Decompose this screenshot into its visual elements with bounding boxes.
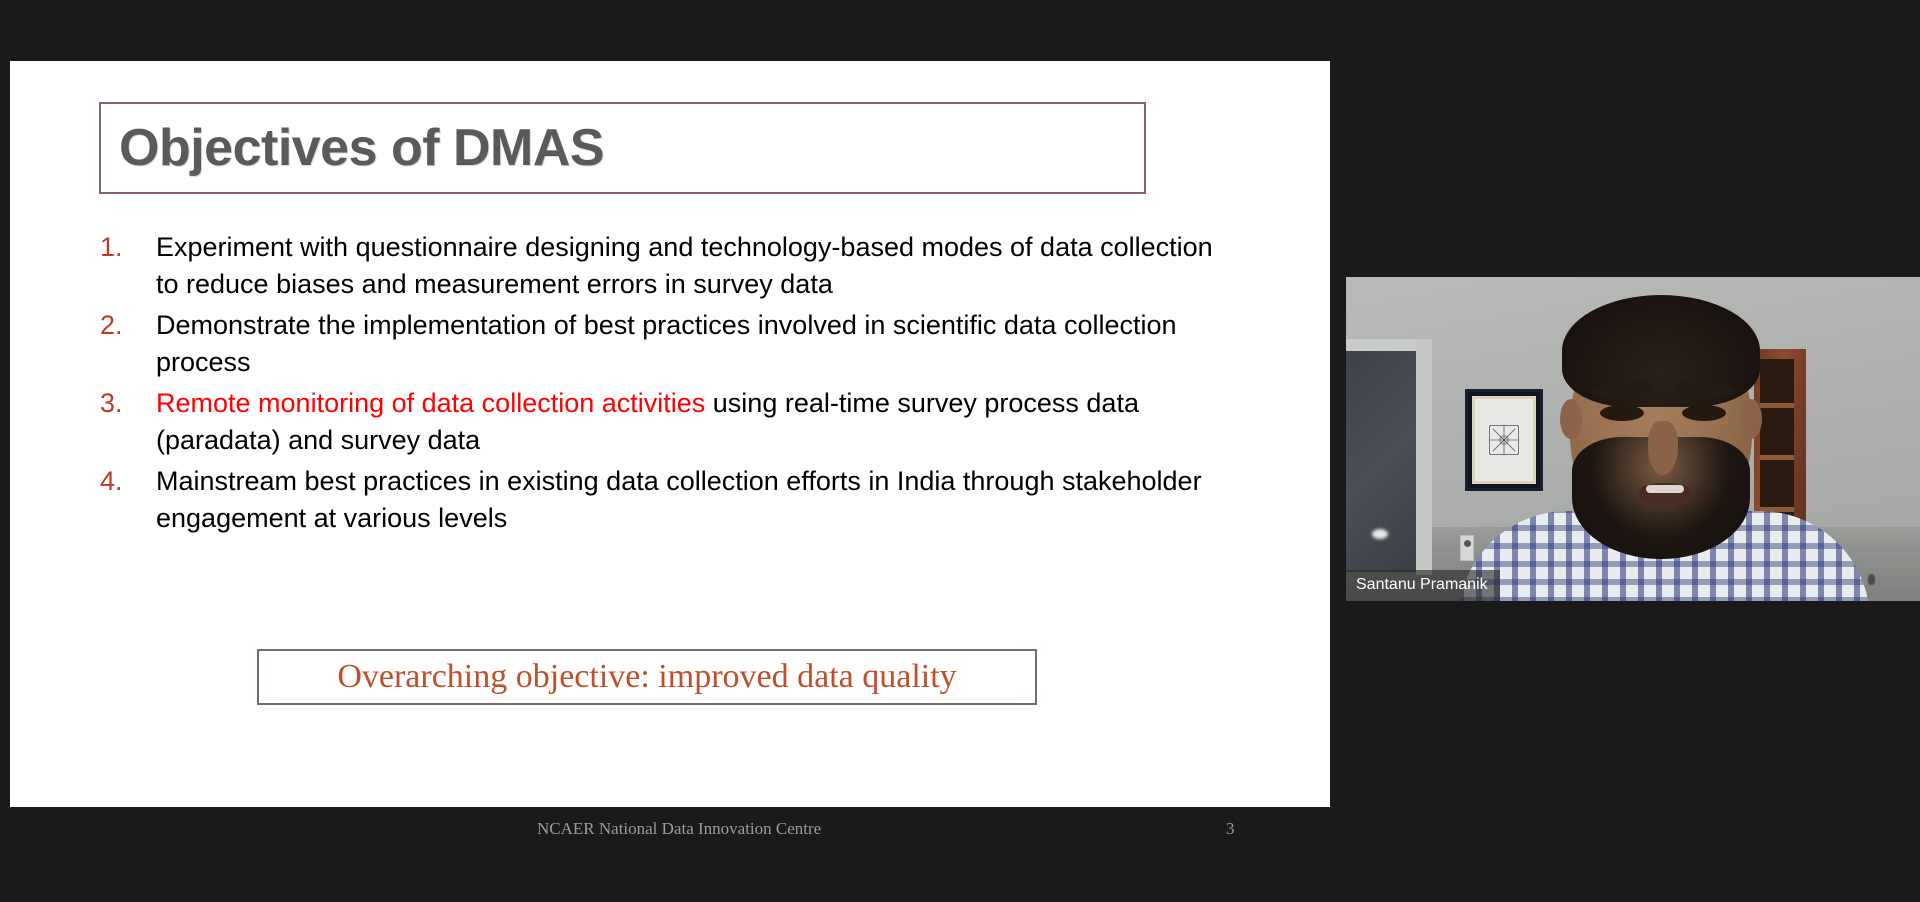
objectives-list: 1. Experiment with questionnaire designi… <box>100 229 1220 541</box>
list-item-text: Demonstrate the implementation of best p… <box>156 307 1220 381</box>
video-background-wall-mark <box>1868 574 1875 585</box>
list-item-number: 1. <box>100 229 156 266</box>
video-background-door-frame <box>1416 339 1432 575</box>
overarching-objective-text: Overarching objective: improved data qua… <box>337 660 956 694</box>
participant-video-tile[interactable]: Santanu Pramanik <box>1346 277 1920 601</box>
participant-name-label: Santanu Pramanik <box>1346 570 1500 601</box>
video-background-wall-switch <box>1460 535 1474 561</box>
list-item: 1. Experiment with questionnaire designi… <box>100 229 1220 303</box>
meeting-stage: Objectives of DMAS 1. Experiment with qu… <box>0 0 1920 902</box>
footer-page-number: 3 <box>1226 819 1235 839</box>
list-item-number: 3. <box>100 385 156 422</box>
list-item: 4. Mainstream best practices in existing… <box>100 463 1220 537</box>
shared-slide[interactable]: Objectives of DMAS 1. Experiment with qu… <box>10 61 1330 807</box>
list-item-highlight: Remote monitoring of data collection act… <box>156 388 705 418</box>
participant-ear-right <box>1740 399 1762 439</box>
list-item: 2. Demonstrate the implementation of bes… <box>100 307 1220 381</box>
list-item-body: Mainstream best practices in existing da… <box>156 466 1202 533</box>
slide-content: Objectives of DMAS 1. Experiment with qu… <box>10 61 1330 807</box>
participant-nose <box>1648 421 1678 475</box>
participant-ear-left <box>1560 399 1582 439</box>
list-item-number: 4. <box>100 463 156 500</box>
participant-portrait <box>1496 287 1826 601</box>
list-item-number: 2. <box>100 307 156 344</box>
overarching-objective-box: Overarching objective: improved data qua… <box>257 649 1037 705</box>
participant-teeth <box>1646 485 1684 493</box>
list-item-text: Experiment with questionnaire designing … <box>156 229 1220 303</box>
video-background-doorway <box>1346 347 1424 572</box>
list-item-text: Remote monitoring of data collection act… <box>156 385 1220 459</box>
footer-organization: NCAER National Data Innovation Centre <box>537 819 821 839</box>
list-item-body: Experiment with questionnaire designing … <box>156 232 1213 299</box>
list-item-text: Mainstream best practices in existing da… <box>156 463 1220 537</box>
participant-eye-left <box>1600 405 1644 421</box>
video-background-door-light <box>1372 529 1388 539</box>
page-title: Objectives of DMAS <box>101 122 604 174</box>
wall-switch-dot <box>1464 540 1471 547</box>
participant-eye-right <box>1682 405 1726 421</box>
list-item: 3. Remote monitoring of data collection … <box>100 385 1220 459</box>
participant-mouth <box>1638 483 1692 505</box>
slide-footer: NCAER National Data Innovation Centre 3 <box>10 819 1330 845</box>
slide-title-box: Objectives of DMAS <box>99 102 1146 194</box>
list-item-body: Demonstrate the implementation of best p… <box>156 310 1177 377</box>
